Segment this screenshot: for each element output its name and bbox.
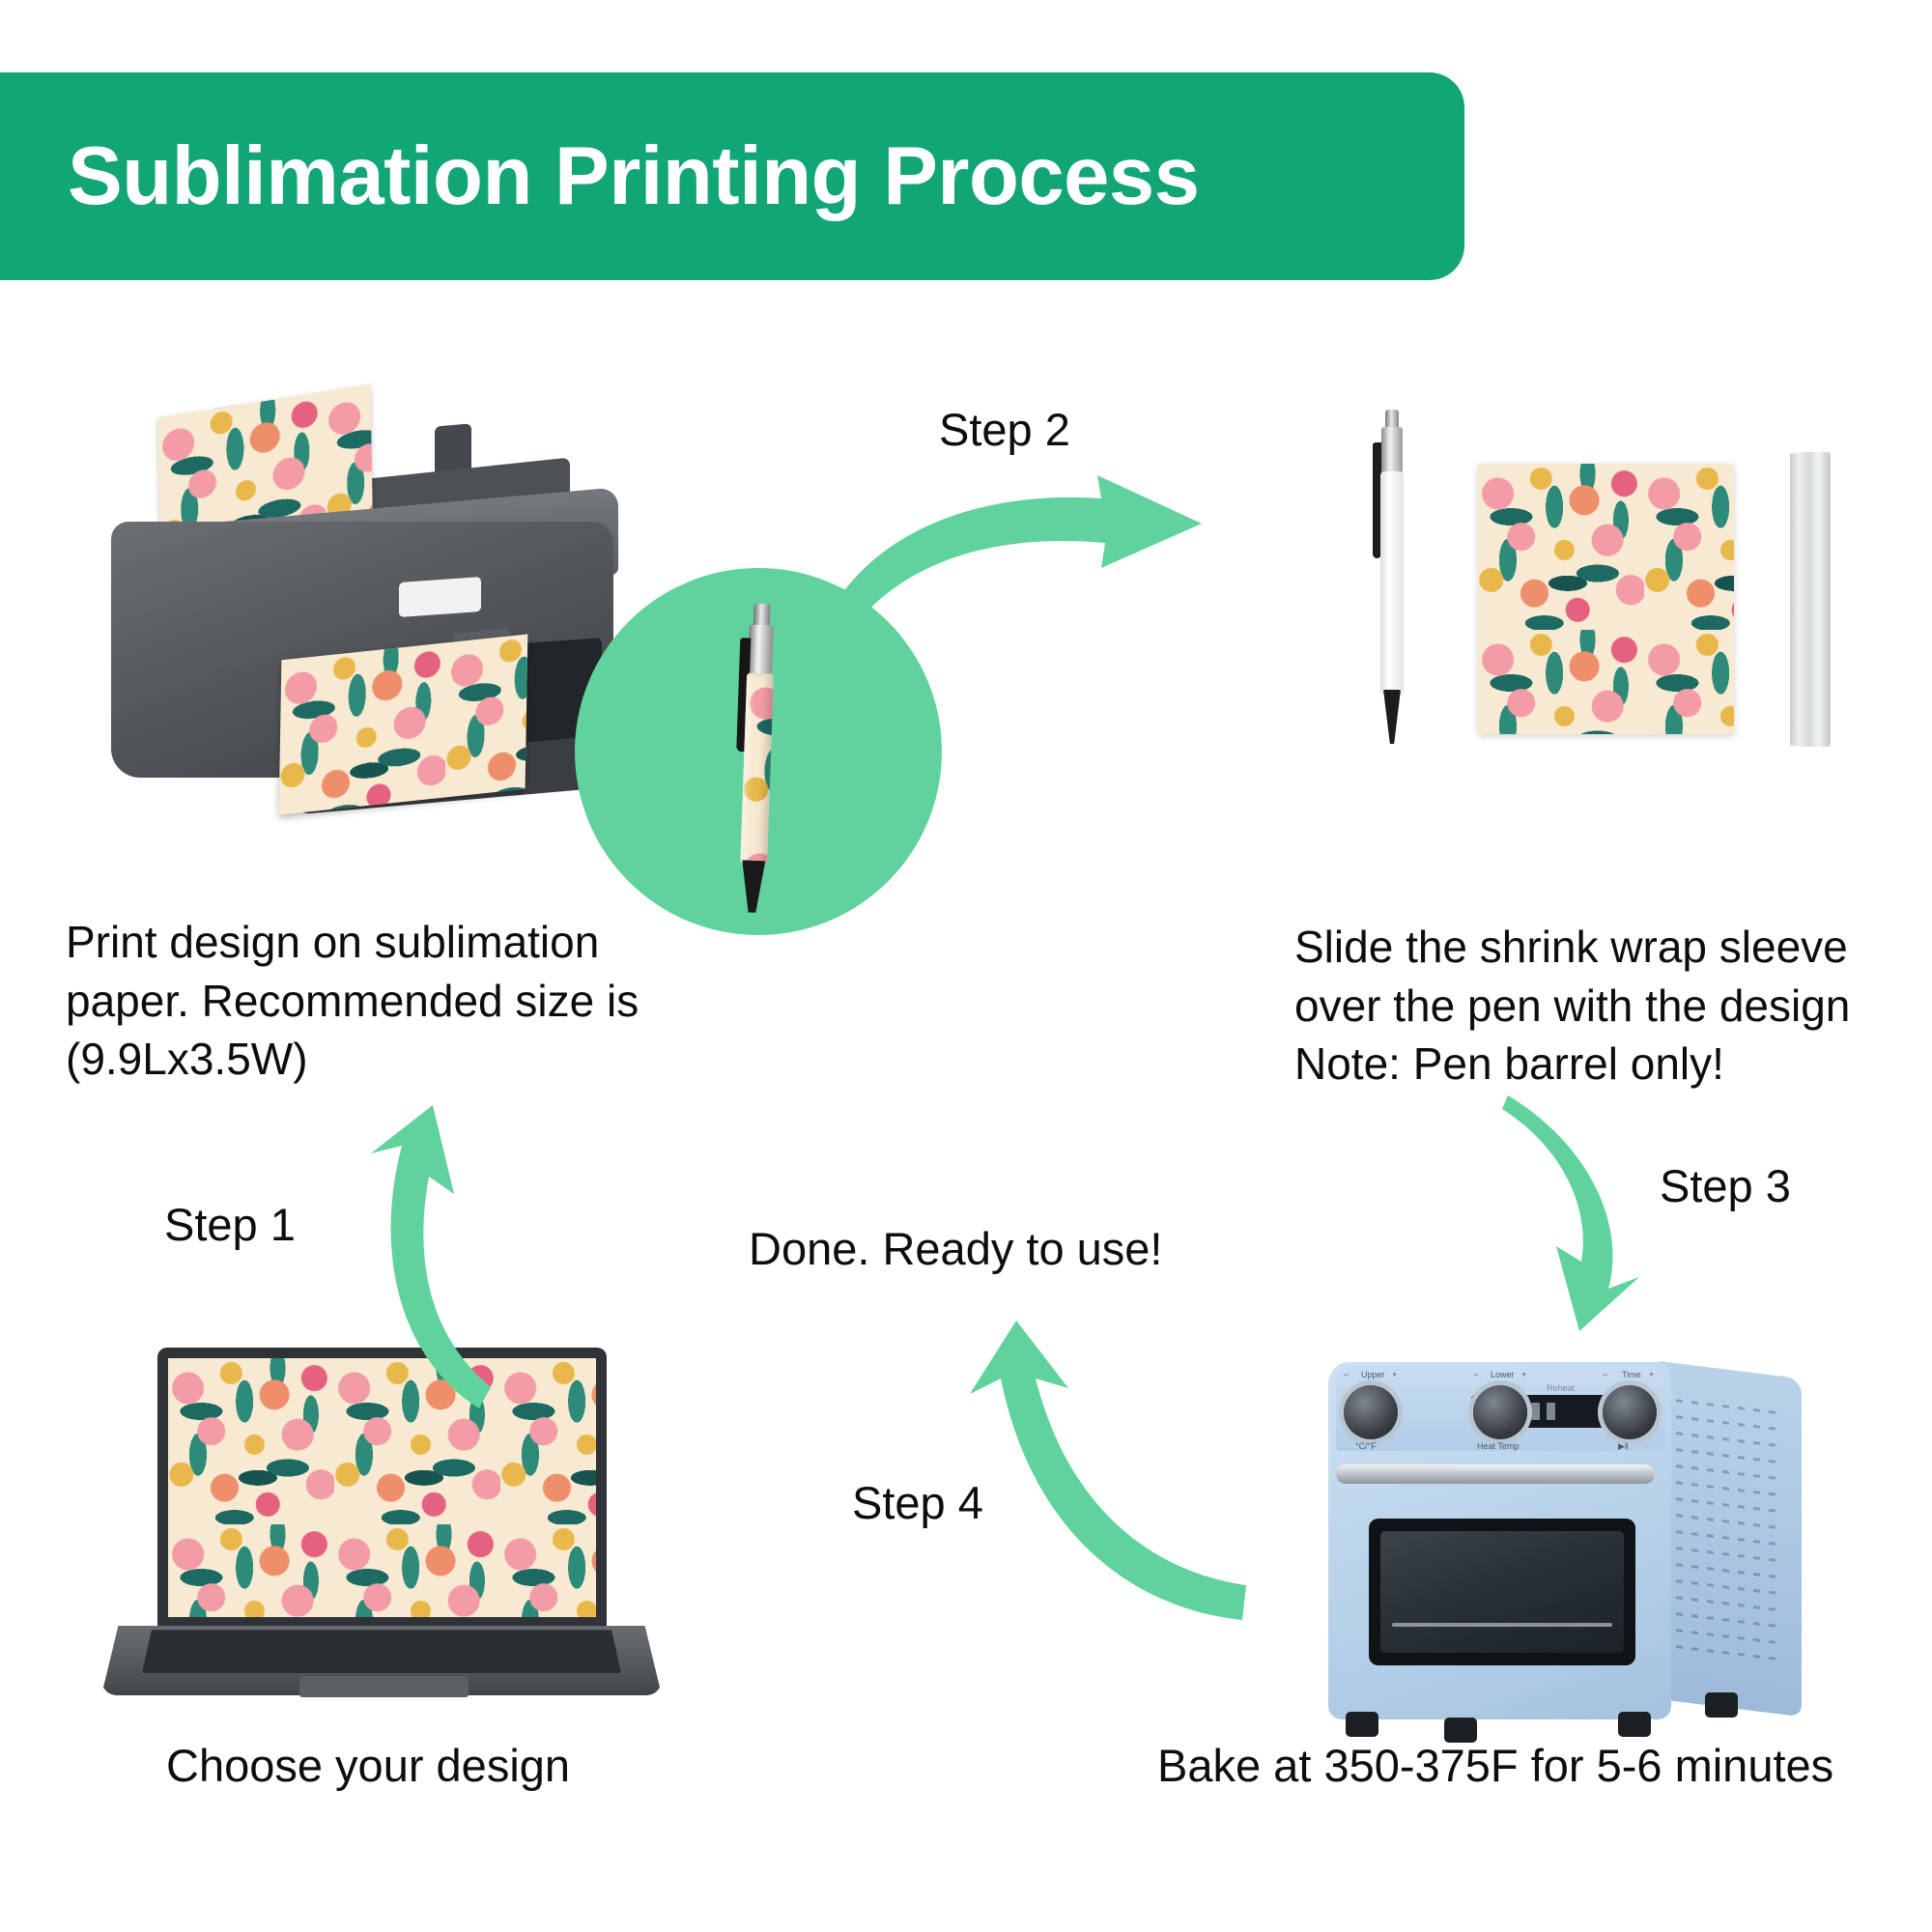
oven-sublabel-units: °C/°F [1355, 1441, 1377, 1451]
oven-label-time: Time [1622, 1370, 1641, 1379]
oven-control-panel: Preset Reheat − Upper + − Lower + − Time… [1336, 1366, 1664, 1451]
step-4-label: Step 4 [852, 1476, 983, 1529]
done-caption: Done. Ready to use! [749, 1222, 1163, 1275]
oven-foot-front-right [1618, 1712, 1651, 1737]
supplies-caption: Slide the shrink wrap sleeve over the pe… [1294, 918, 1932, 1094]
oven-sublabel-heat-temp: Heat Temp [1477, 1441, 1519, 1451]
finished-pen-barrel [740, 672, 774, 865]
oven-minus-upper: − [1344, 1370, 1349, 1379]
laptop-caption: Choose your design [166, 1739, 570, 1792]
shrink-wrap-sleeve [1790, 452, 1831, 747]
laptop-trackpad [299, 1676, 469, 1697]
oven-knob-lower[interactable] [1473, 1385, 1527, 1439]
oven-knob-upper[interactable] [1344, 1385, 1398, 1439]
supplies-illustration [1348, 386, 1889, 792]
sublimation-paper-sheet [1478, 464, 1734, 734]
oven-plus-time: + [1649, 1370, 1654, 1379]
step-3-label: Step 3 [1660, 1159, 1791, 1212]
oven-illustration: Preset Reheat − Upper + − Lower + − Time… [1290, 1352, 1840, 1758]
arrow-step-1 [309, 1101, 493, 1410]
printed-sheet-output [279, 634, 528, 814]
oven-plus-lower: + [1521, 1370, 1526, 1379]
oven-sublabel-start-pause: ▶‖ [1618, 1441, 1629, 1452]
infographic-canvas: Sublimation Printing Process Print desig… [0, 0, 1932, 1932]
oven-label-upper: Upper [1361, 1370, 1385, 1379]
arrow-step-2 [811, 454, 1217, 647]
oven-display-tag-reheat: Reheat [1547, 1383, 1575, 1393]
page-title: Sublimation Printing Process [68, 129, 1199, 224]
oven-door[interactable] [1369, 1519, 1635, 1665]
title-banner: Sublimation Printing Process [0, 72, 1464, 280]
oven-knob-time[interactable] [1603, 1385, 1657, 1439]
oven-label-lower: Lower [1491, 1370, 1515, 1379]
step-2-label: Step 2 [939, 403, 1070, 456]
oven-vents [1676, 1399, 1784, 1673]
pen-barrel [1380, 471, 1404, 694]
oven-caption: Bake at 350-375F for 5-6 minutes [1157, 1739, 1833, 1792]
oven-rack [1392, 1623, 1612, 1627]
oven-plus-upper: + [1392, 1370, 1397, 1379]
oven-foot-front-left [1346, 1712, 1378, 1737]
oven-door-handle[interactable] [1336, 1464, 1655, 1484]
oven-foot-rear-right [1705, 1692, 1738, 1718]
arrow-step-3 [1502, 1092, 1676, 1333]
oven-glass-window [1380, 1531, 1624, 1653]
oven-minus-time: − [1603, 1370, 1607, 1379]
printer-control-panel [399, 577, 481, 617]
pen-chrome-collar [1381, 427, 1403, 475]
finished-pen-collar [748, 624, 774, 675]
finished-pen-tip [740, 860, 765, 913]
step-1-label: Step 1 [164, 1198, 296, 1251]
oven-minus-lower: − [1473, 1370, 1478, 1379]
pen-tip [1383, 690, 1401, 744]
printer-caption: Print design on sublimation paper. Recom… [66, 913, 703, 1089]
blank-pen [1375, 408, 1409, 746]
finished-pen [726, 603, 795, 914]
laptop-keyboard [142, 1630, 621, 1673]
